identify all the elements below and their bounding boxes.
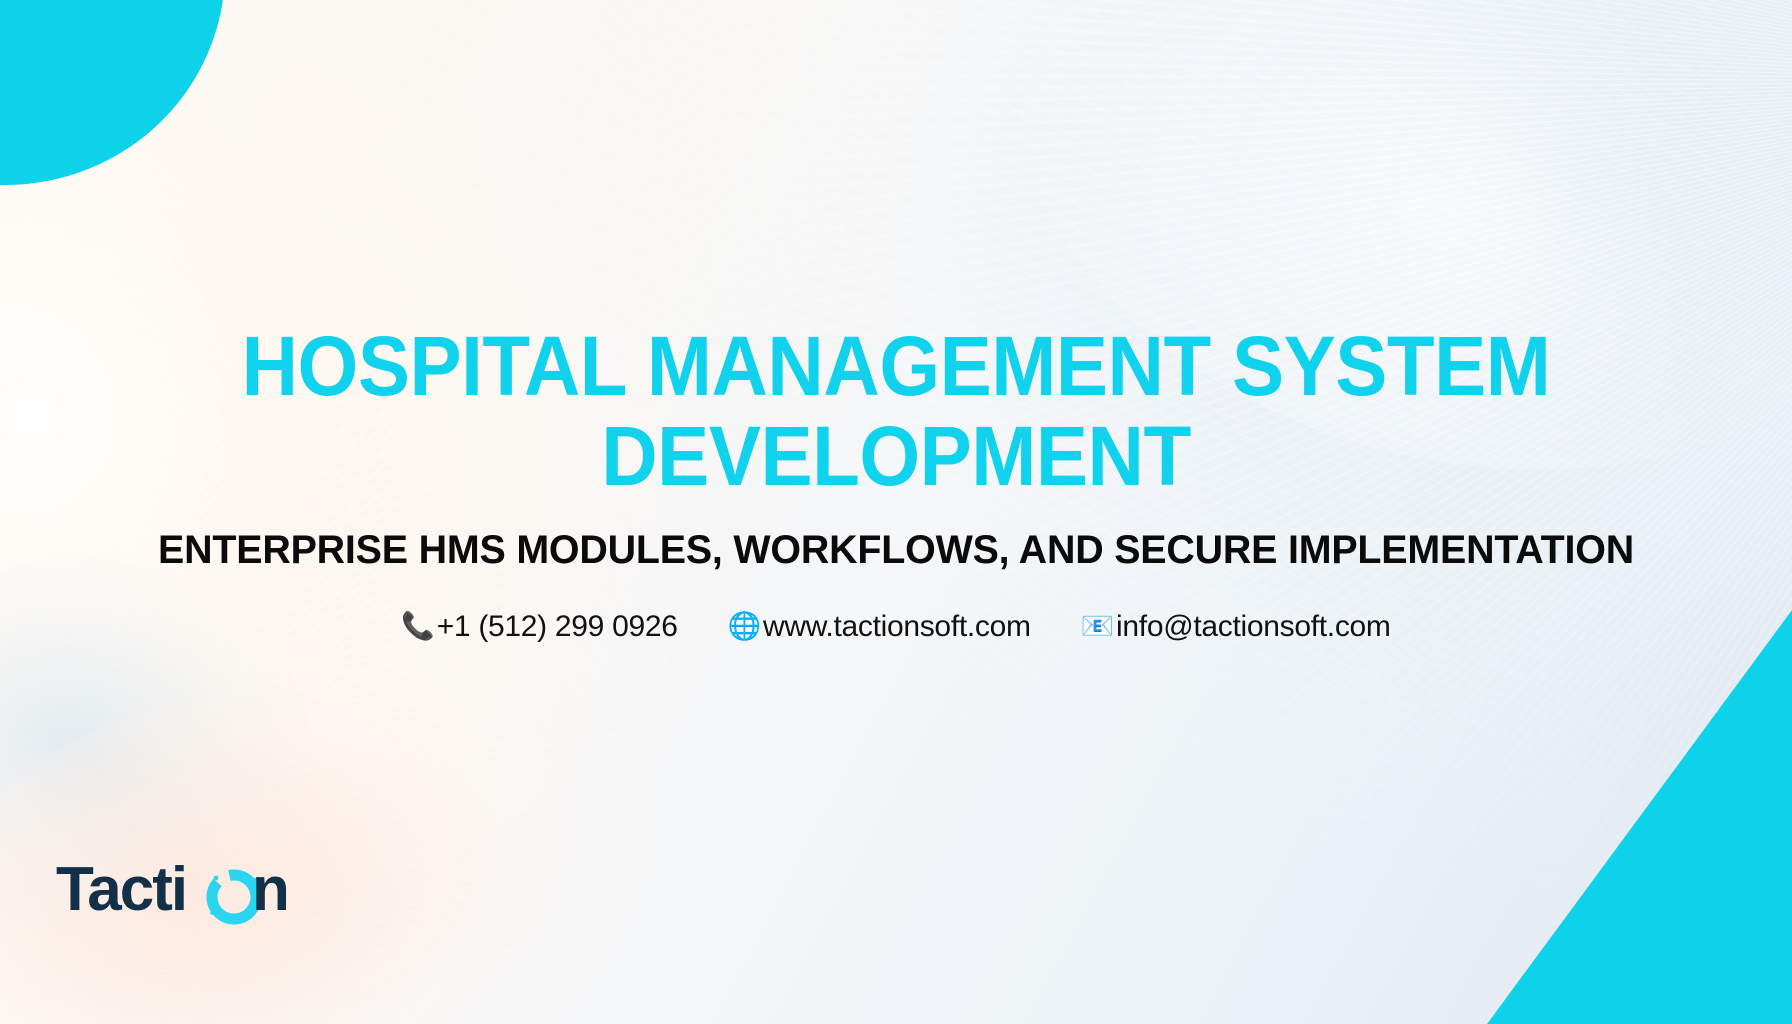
brand-logo[interactable]: Tacti n	[56, 856, 326, 928]
contact-phone-text: +1 (512) 299 0926	[437, 612, 678, 642]
page-title: HOSPITAL MANAGEMENT SYSTEM DEVELOPMENT	[171, 322, 1622, 502]
brand-logo-svg: Tacti n	[56, 856, 326, 928]
contact-item-phone[interactable]: 📞 +1 (512) 299 0926	[401, 612, 677, 642]
contact-row: 📞 +1 (512) 299 0926 🌐 www.tactionsoft.co…	[401, 612, 1390, 642]
envelope-icon: 📧	[1081, 613, 1114, 640]
banner-root: HOSPITAL MANAGEMENT SYSTEM DEVELOPMENT E…	[0, 0, 1792, 1024]
brand-logo-tail: n	[252, 856, 288, 924]
contact-website-text: www.tactionsoft.com	[763, 612, 1031, 642]
brand-logo-wordmark: Tacti	[56, 856, 186, 924]
page-subtitle: ENTERPRISE HMS MODULES, WORKFLOWS, AND S…	[59, 528, 1734, 572]
contact-item-email[interactable]: 📧 info@tactionsoft.com	[1081, 612, 1391, 642]
globe-icon: 🌐	[728, 613, 761, 640]
contact-item-website[interactable]: 🌐 www.tactionsoft.com	[728, 612, 1031, 642]
contact-email-text: info@tactionsoft.com	[1116, 612, 1391, 642]
phone-icon: 📞	[401, 613, 434, 640]
